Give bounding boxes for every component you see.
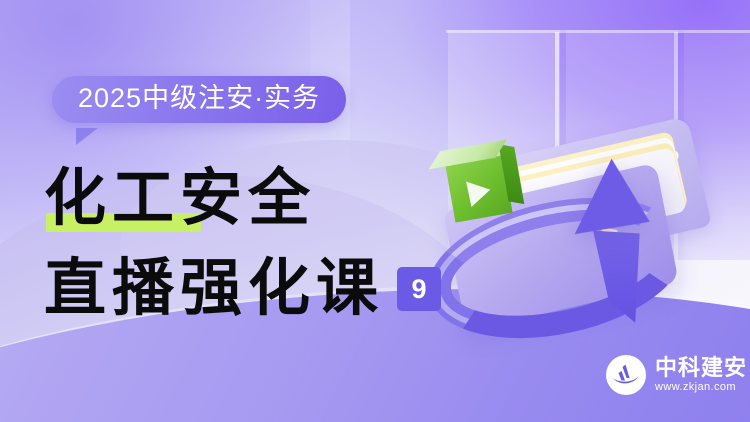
green-play-cube-icon — [445, 155, 512, 222]
episode-number-badge: 9 — [397, 267, 441, 311]
badge-speech-tail — [76, 128, 98, 145]
brand-logo-text: 中科建安 www.zkjan.com — [655, 357, 747, 393]
page-title-line-2: 直播强化课 — [44, 258, 384, 320]
course-banner: 2025中级注安·实务 化工安全 直播强化课 9 中科建安 www.zkjan.… — [0, 0, 750, 422]
brand-name: 中科建安 — [655, 357, 747, 379]
page-title-line-1: 化工安全 — [44, 168, 316, 230]
zkjan-circle-logo-icon — [606, 355, 646, 395]
course-illustration — [392, 20, 750, 350]
brand-url: www.zkjan.com — [655, 382, 747, 393]
course-category-badge: 2025中级注安·实务 — [52, 76, 346, 123]
brand-logo[interactable]: 中科建安 www.zkjan.com — [606, 355, 747, 395]
